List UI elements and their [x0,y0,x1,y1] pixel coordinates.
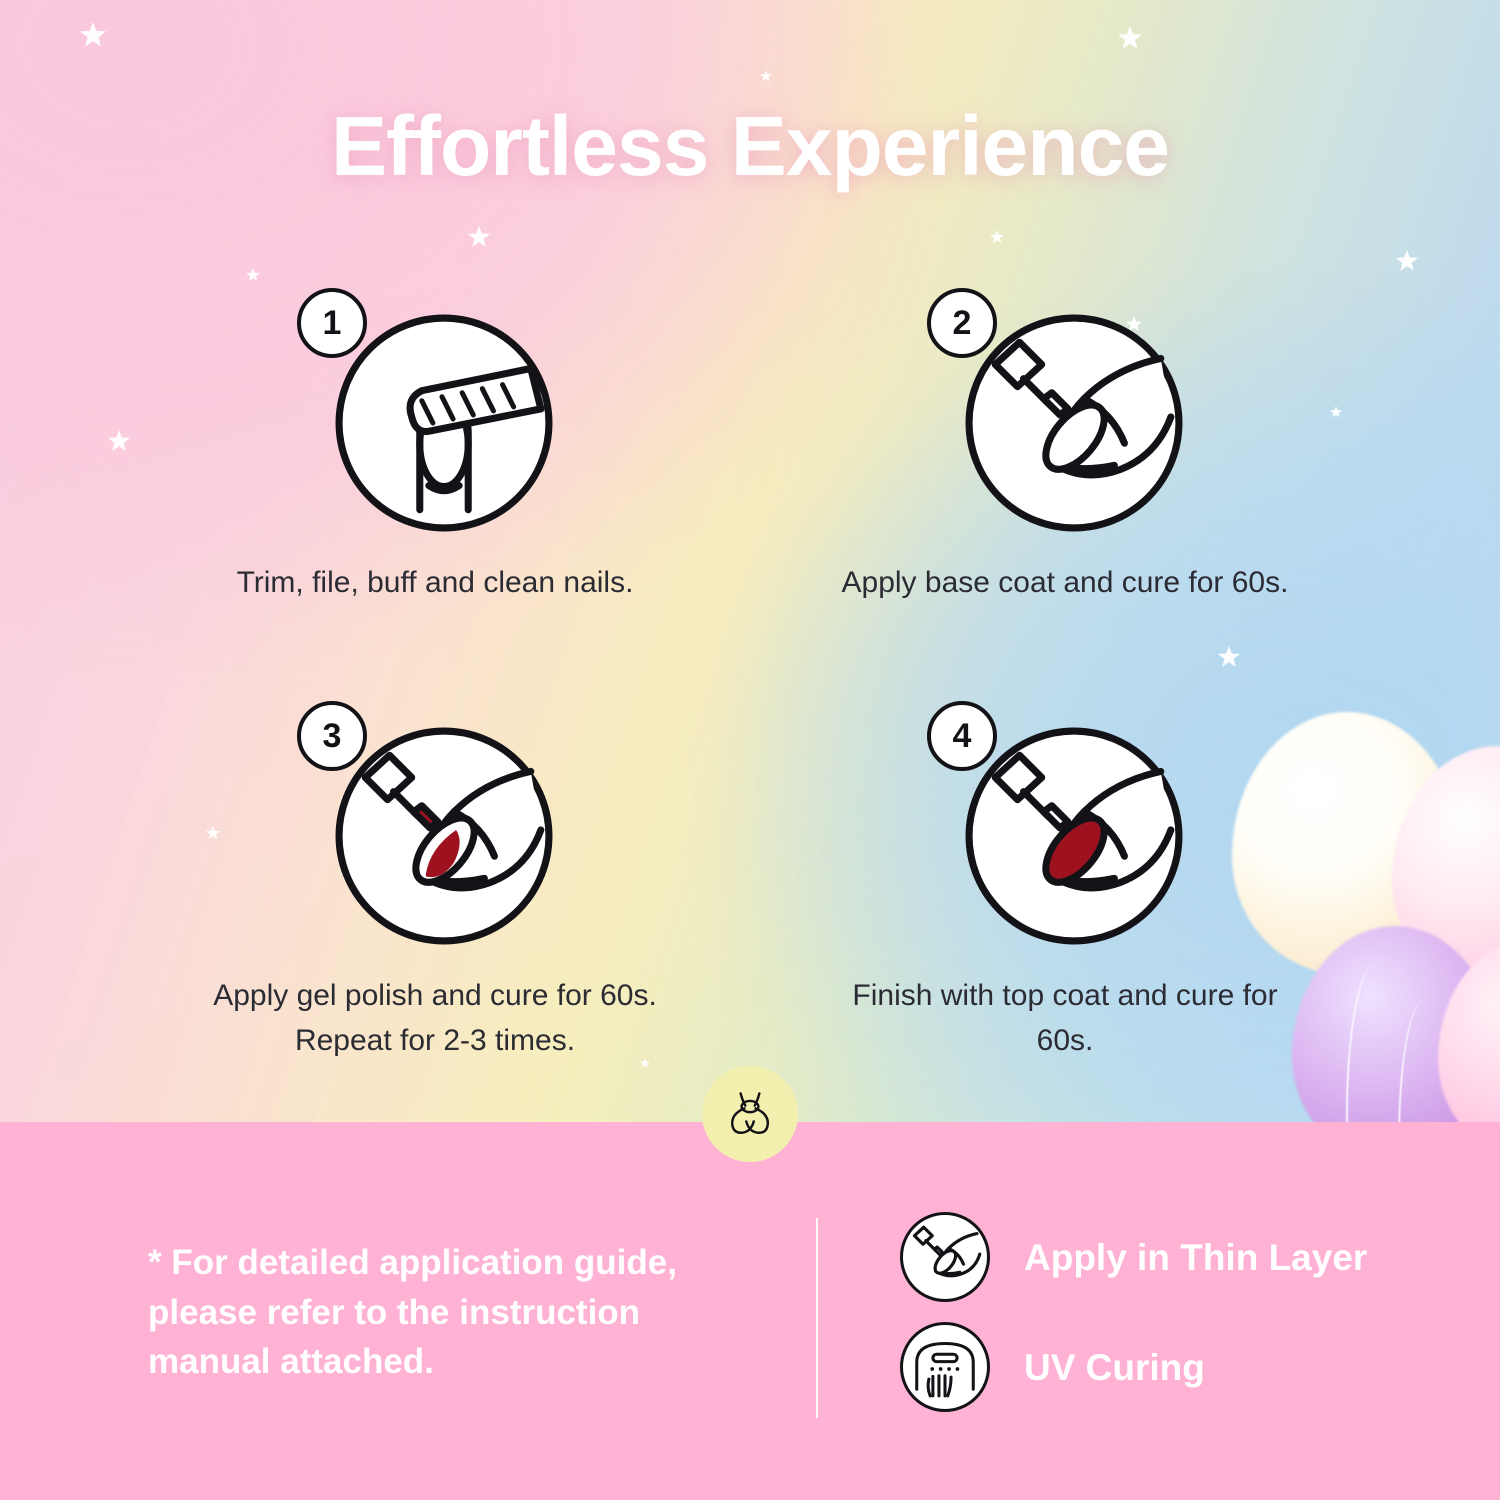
steps-row-2: 3 [0,701,1500,1063]
feature-label: Apply in Thin Layer [1024,1239,1367,1276]
step-3: 3 [200,701,670,1063]
step-1-number-badge: 1 [297,288,367,358]
step-2: 2 Apply base coat [830,288,1300,605]
brush-top-coat-icon [963,725,1185,947]
step-1-illustration-wrap: 1 [285,288,585,540]
step-2-caption: Apply base coat and cure for 60s. [842,560,1289,605]
feature-apply-thin-layer: Apply in Thin Layer [900,1212,1367,1302]
step-3-illustration-wrap: 3 [285,701,585,953]
footer-features: Apply in Thin Layer [900,1212,1367,1412]
step-3-number-badge: 3 [297,701,367,771]
step-2-illustration-wrap: 2 [915,288,1215,540]
nail-file-icon [333,312,555,534]
step-4-illustration-wrap: 4 [915,701,1215,953]
footer-divider [816,1218,818,1418]
uv-lamp-icon [900,1322,990,1412]
page-title: Effortless Experience [0,104,1500,188]
brush-base-coat-icon [963,312,1185,534]
feature-uv-curing: UV Curing [900,1322,1367,1412]
step-4: 4 [830,701,1300,1063]
step-1: 1 [200,288,670,605]
steps-row-1: 1 [0,288,1500,605]
brush-gel-polish-icon [333,725,555,947]
thin-layer-brush-icon [900,1212,990,1302]
step-2-number-badge: 2 [927,288,997,358]
step-4-number-badge: 4 [927,701,997,771]
feature-label: UV Curing [1024,1349,1205,1386]
step-1-caption: Trim, file, buff and clean nails. [237,560,634,605]
footer-note: * For detailed application guide, please… [148,1238,768,1387]
steps-container: 1 [0,288,1500,1063]
infographic-canvas: Effortless Experience 1 [0,0,1500,1500]
butterfly-logo-icon [722,1086,778,1142]
brand-logo-badge [702,1066,798,1162]
step-3-caption: Apply gel polish and cure for 60s. Repea… [205,973,665,1063]
step-4-caption: Finish with top coat and cure for 60s. [835,973,1295,1063]
